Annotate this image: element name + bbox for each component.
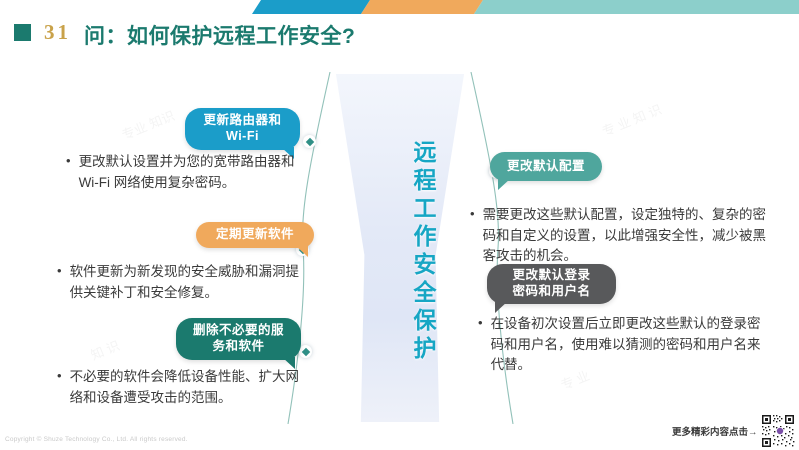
callout-bubble-remove-services[interactable]: 删除不必要的服 务和软件 — [176, 318, 301, 360]
header-marker-square — [14, 24, 31, 41]
bullet-text: 软件更新为新发现的安全威胁和漏洞提供关键补丁和安全修复。 — [70, 262, 307, 303]
callout-bubble-update-router[interactable]: 更新路由器和 Wi-Fi — [185, 108, 300, 150]
top-band-teal — [474, 0, 799, 14]
callout-label-line1: 删除不必要的服 — [193, 323, 284, 337]
node-diamond-left-3 — [299, 345, 312, 358]
page-title: 问：如何保护远程工作安全? — [84, 20, 355, 50]
bullet-text: 不必要的软件会降低设备性能、扩大网络和设备遭受攻击的范围。 — [70, 367, 307, 408]
callout-bubble-label: 更新路由器和 Wi-Fi — [203, 113, 281, 144]
bullet-text: 更改默认设置并为您的宽带路由器和Wi-Fi 网络使用复杂密码。 — [79, 152, 302, 193]
qr-code-icon[interactable] — [761, 414, 795, 448]
bullet-glyph: • — [470, 205, 475, 267]
qr-call-to-action[interactable]: 更多精彩内容点击→ — [672, 414, 795, 448]
callout-label-line2: 密码和用户名 — [512, 284, 590, 298]
callout-label-line2: Wi-Fi — [226, 129, 259, 143]
bullet-item-right-1: • 需要更改这些默认配置，设定独特的、复杂的密码和自定义的设置，以此增强安全性，… — [470, 205, 770, 267]
bullet-item-right-2: • 在设备初次设置后立即更改这些默认的登录密码和用户名，使用难以猜测的密码和用户… — [478, 314, 766, 376]
slide-canvas: 31 问：如何保护远程工作安全? 专业 知识 专 业 知 识 知 识 专 业 远… — [0, 0, 799, 450]
watermark: 知 识 — [88, 335, 123, 364]
callout-bubble-change-defaults[interactable]: 更改默认配置 — [490, 152, 602, 181]
callout-label-line1: 更改默认登录 — [512, 268, 590, 282]
callout-label-line1: 更新路由器和 — [203, 113, 281, 127]
callout-bubble-label: 定期更新软件 — [216, 227, 294, 243]
bullet-glyph: • — [57, 367, 62, 408]
bullet-text: 在设备初次设置后立即更改这些默认的登录密码和用户名，使用难以猜测的密码和用户名来… — [491, 314, 766, 376]
center-vertical-title: 远程工作安全保护 — [362, 140, 436, 364]
bullet-text: 需要更改这些默认配置，设定独特的、复杂的密码和自定义的设置，以此增强安全性，减少… — [483, 205, 770, 267]
callout-label-line2: 务和软件 — [212, 339, 264, 353]
qr-label: 更多精彩内容点击→ — [672, 424, 758, 438]
header-question-number: 31 — [44, 20, 71, 45]
copyright-notice: Copyright © Shuze Technology Co., Ltd. A… — [5, 436, 188, 443]
watermark: 专业 知识 — [118, 105, 177, 143]
bullet-glyph: • — [478, 314, 483, 376]
bubble-tail-icon — [498, 178, 511, 190]
bullet-glyph: • — [57, 262, 62, 303]
bullet-item-left-3: • 不必要的软件会降低设备性能、扩大网络和设备遭受攻击的范围。 — [57, 367, 307, 408]
bullet-item-left-2: • 软件更新为新发现的安全威胁和漏洞提供关键补丁和安全修复。 — [57, 262, 307, 303]
callout-bubble-label: 更改默认配置 — [507, 159, 585, 175]
bubble-tail-icon — [295, 245, 308, 257]
callout-bubble-update-software[interactable]: 定期更新软件 — [196, 222, 314, 248]
bullet-item-left-1: • 更改默认设置并为您的宽带路由器和Wi-Fi 网络使用复杂密码。 — [66, 152, 302, 193]
node-diamond-left-1 — [303, 135, 316, 148]
callout-bubble-label: 更改默认登录 密码和用户名 — [512, 268, 590, 299]
bubble-tail-icon — [495, 301, 508, 313]
top-band-blue — [252, 0, 370, 14]
bullet-glyph: • — [66, 152, 71, 193]
slide-header: 31 问：如何保护远程工作安全? — [0, 18, 799, 52]
watermark: 专 业 知 识 — [599, 99, 664, 140]
top-band-orange — [361, 0, 483, 14]
callout-bubble-label: 删除不必要的服 务和软件 — [193, 323, 284, 354]
callout-bubble-change-credentials[interactable]: 更改默认登录 密码和用户名 — [487, 264, 616, 304]
